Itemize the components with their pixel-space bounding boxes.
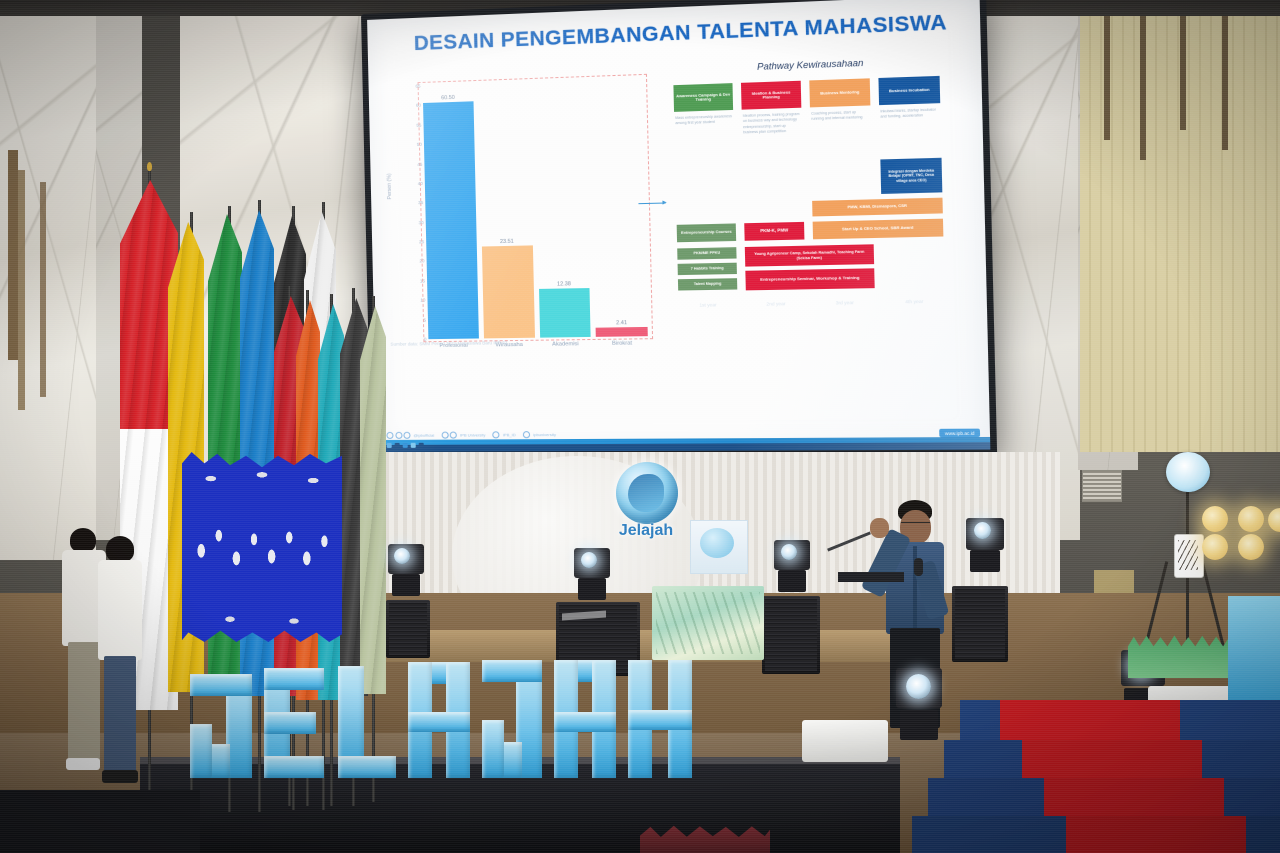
pathway-body-2: Coaching process, start up running and i… — [811, 110, 870, 123]
decor-flag-sage — [360, 306, 386, 694]
letter-stroke — [264, 712, 316, 734]
pathway-tile-entrepreneurship-courses: Entrepreneurship Courses — [677, 223, 737, 242]
moving-head-light-1 — [386, 544, 426, 602]
wall-light-2 — [1202, 534, 1228, 560]
slide-title: DESAIN PENGEMBANGAN TALENTA MAHASISWA — [407, 10, 954, 56]
ac-vent — [1082, 470, 1122, 502]
pathway-tile-pkmk: PKM-K, PMW — [744, 222, 804, 241]
slide-footer: @ipbofficial IPB University IPB_ID ipbun… — [376, 422, 990, 452]
light-lens — [906, 674, 931, 699]
light-base — [578, 578, 606, 600]
pathway-year-2: 3rd year — [814, 300, 875, 306]
projection-screen: DESAIN PENGEMBANGAN TALENTA MAHASISWA Pe… — [361, 0, 997, 458]
chart-value-label: 12.38 — [538, 281, 589, 288]
person-hair — [70, 528, 96, 552]
chart-x-label: Akademisi — [540, 341, 591, 348]
social-handle-1: IPB University — [460, 432, 486, 437]
youtube-icon — [395, 432, 402, 439]
pathway-year-0: 1st year — [678, 302, 737, 308]
chart-value-label: 23.51 — [481, 238, 532, 245]
linkedin-icon — [403, 432, 410, 439]
social-handle-0: @ipbofficial — [413, 433, 434, 438]
light-lens — [781, 544, 797, 560]
stage-deck-upper — [380, 630, 910, 662]
social-group-2: IPB_ID — [493, 431, 516, 438]
pathway-diagram: Pathway Kewirausahaan Awareness Campaign… — [667, 54, 965, 383]
instagram-icon — [386, 432, 393, 439]
pathway-tile-7-habbits: 7 Habbits Training — [678, 263, 737, 275]
speaker-grill — [765, 599, 817, 671]
light-lens — [974, 522, 991, 539]
chart-bars: 60.5023.5112.382.41 — [421, 78, 650, 339]
presentation-slide: DESAIN PENGEMBANGAN TALENTA MAHASISWA Pe… — [367, 0, 990, 452]
presenter-hand — [870, 518, 889, 538]
chart-bar — [482, 245, 535, 338]
facebook-alt-icon — [450, 432, 457, 439]
pathway-header-1: Ideation & Business Planning — [741, 81, 801, 110]
presenter-glasses — [901, 522, 930, 528]
chart-bar — [596, 327, 648, 337]
blue-foam-decor — [1228, 596, 1280, 700]
person-hair — [106, 536, 134, 562]
wall-light-4 — [1238, 534, 1264, 560]
twitter-icon — [493, 431, 500, 438]
flag-folds — [360, 306, 386, 694]
wall-slat-a — [18, 170, 25, 410]
social-group-1: IPB University — [441, 431, 485, 438]
wood-slat-r2 — [1140, 0, 1146, 160]
stage-speaker-far-right — [952, 586, 1008, 662]
social-group-3: ipbuniversity — [523, 431, 556, 438]
letter-stroke — [264, 756, 324, 778]
presenter-microphone — [914, 558, 923, 576]
footer-icon-3 — [395, 443, 400, 448]
stair-carpet-4 — [1066, 816, 1246, 853]
stair-carpet-1 — [1000, 700, 1180, 740]
letter-stroke — [190, 674, 252, 696]
pathway-header-3: Business Incubation — [878, 76, 940, 105]
moving-head-light-4 — [964, 518, 1006, 578]
chart-bar — [539, 288, 591, 338]
tiktok-icon — [523, 431, 530, 438]
indonesia-flag-finial — [147, 162, 152, 171]
letter-stroke — [628, 710, 692, 730]
letter-A-1 — [408, 662, 472, 778]
side-display-graphic — [700, 528, 734, 558]
pathway-tile-talent-mapping: Talent Mapping — [678, 278, 737, 290]
jelajah-letters — [186, 660, 706, 780]
person-shoes — [102, 770, 138, 783]
letter-L — [338, 666, 396, 778]
letter-stroke — [264, 668, 324, 690]
moving-head-light-floor-1 — [892, 668, 946, 752]
social-handle-3: ipbuniversity — [533, 432, 556, 437]
batik-banner — [182, 452, 342, 642]
social-group-0: @ipbofficial — [386, 432, 434, 439]
logo-text: Jelajah — [608, 522, 684, 540]
chart-bar-group: 2.41 — [590, 78, 648, 337]
stage-front-face — [0, 790, 200, 853]
rect-info-sign-lines — [1178, 540, 1198, 570]
letter-stroke — [190, 724, 212, 778]
social-handle-2: IPB_ID — [503, 432, 516, 437]
pathway-header-2: Business Mentoring — [809, 78, 870, 107]
chart-bar-group: 23.51 — [478, 82, 535, 338]
chart-value-label: 2.41 — [596, 319, 648, 326]
stage-speaker-right — [762, 596, 820, 674]
letter-stroke — [338, 756, 396, 778]
facebook-icon — [441, 432, 448, 439]
podium-foliage — [656, 592, 760, 654]
footer-icon-6 — [419, 443, 424, 448]
light-base — [392, 574, 420, 596]
pathway-tile-startup-ceo-school: Start Up & CEO School, SBR Award — [813, 219, 944, 240]
chart-plot-area: 60.5023.5112.382.41 — [421, 78, 650, 339]
chart-bar-group: 60.50 — [423, 84, 479, 339]
pathway-year-1: 2nd year — [746, 301, 806, 307]
chart-bar — [423, 102, 479, 339]
letter-J-1 — [190, 674, 254, 778]
attendee-person-2 — [96, 536, 152, 798]
moving-head-light-2 — [572, 548, 612, 606]
light-base — [970, 550, 1000, 572]
pathway-year-3: 4th year — [884, 298, 945, 304]
wall-light-1 — [1202, 506, 1228, 532]
pathway-body-1: Ideation process, training program on bu… — [743, 112, 801, 136]
pathway-tile-integrasi: Integrasi dengan Merdeka Belajar (OPMT, … — [880, 158, 942, 194]
jelajah-stage-logo: Jelajah — [604, 462, 688, 568]
letter-H — [628, 660, 692, 778]
letter-stroke — [482, 660, 542, 682]
logo-wave — [628, 474, 664, 512]
pathway-tile-pmw: PMW, KBMI, Dismaspora, CSR — [812, 198, 943, 217]
pathway-body-0: Mass entrepreneurship awareness among fi… — [675, 114, 732, 127]
chart-y-axis-label: Persen (%) — [387, 173, 394, 199]
pathway-header-0: Awareness Campaign & Dev Training — [673, 83, 733, 112]
letter-stroke — [554, 712, 616, 732]
letter-stroke — [408, 712, 470, 732]
chart-bar-group: 12.38 — [534, 80, 591, 338]
wall-light-3 — [1238, 506, 1264, 532]
light-lens — [394, 548, 410, 564]
person-trousers — [104, 656, 136, 774]
website-badge: www.ipb.ac.id — [939, 429, 980, 438]
auditorium-scene: DESAIN PENGEMBANGAN TALENTA MAHASISWA Pe… — [0, 0, 1280, 853]
moving-head-light-3 — [772, 540, 812, 598]
speaker-grill — [389, 603, 427, 655]
light-base — [900, 710, 938, 740]
footer-icon-4 — [403, 443, 408, 448]
stair-carpet-2 — [1022, 740, 1202, 778]
letter-A-2 — [554, 660, 618, 778]
letter-E — [264, 668, 326, 778]
bar-chart: Persen (%) 65605550454035302520151050 60… — [386, 72, 657, 382]
pathway-tile-young-agripreneur: Young Agripreneur Camp, Sekolah Ramadhi,… — [745, 244, 874, 266]
light-lens — [581, 552, 597, 568]
pathway-tile-pkm-ppku: PKM/ME PPKU — [677, 247, 736, 260]
white-case-1 — [802, 720, 888, 762]
pathway-body-3: Inkubasi bisnis, startup incubator and f… — [880, 107, 939, 120]
person-shirt — [98, 560, 142, 660]
wood-slat-r4 — [1222, 0, 1228, 150]
stage-speaker-left — [386, 600, 430, 658]
round-event-sign — [1166, 452, 1210, 492]
letter-stroke — [482, 720, 504, 778]
speaker-grill — [955, 589, 1005, 659]
social-handles: @ipbofficial IPB University IPB_ID ipbun… — [386, 431, 556, 439]
chart-x-label: Birokrat — [596, 340, 648, 347]
batik-motif — [182, 452, 342, 642]
wall-slat-b — [40, 182, 46, 397]
pathway-title: Pathway Kewirausahaan — [667, 54, 957, 75]
wood-slat-r3 — [1180, 0, 1186, 130]
light-base — [778, 570, 806, 592]
letter-J-2 — [482, 660, 544, 778]
stage-monitor-table — [838, 572, 904, 582]
footer-icon-5 — [411, 443, 416, 448]
footer-bottom-bar — [377, 442, 991, 452]
wood-slat-r1 — [1104, 0, 1110, 140]
stair-carpet-3 — [1044, 778, 1224, 816]
footer-icon-2 — [387, 443, 392, 448]
person-shoes — [66, 758, 100, 770]
pathway-tile-entrepreneurship-seminar: Entrepreneurship Seminar, Workshop & Tra… — [745, 268, 874, 290]
